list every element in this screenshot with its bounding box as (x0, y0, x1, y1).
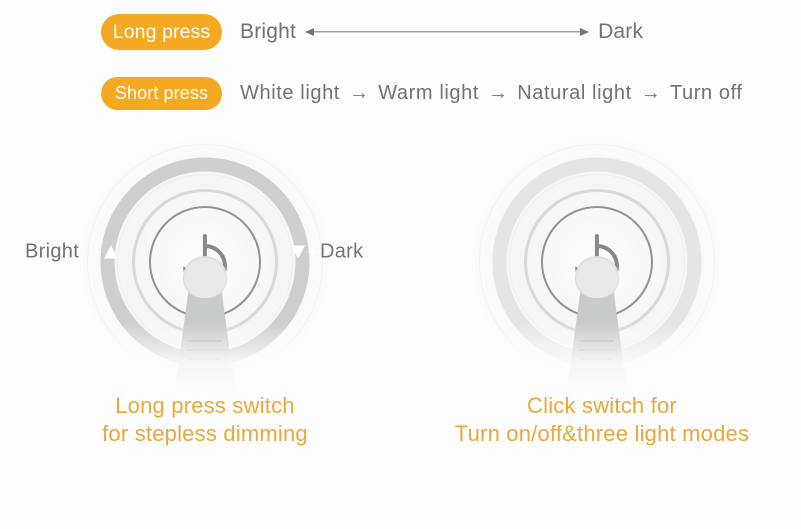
caption-left-line-1: Long press switch (40, 392, 370, 420)
diagram-label-dark: Dark (320, 241, 363, 264)
double-headed-arrow-icon (306, 26, 588, 38)
long-press-dark-label: Dark (598, 20, 643, 44)
badge-short-press: Short press (101, 77, 222, 110)
legend-row-long-press: Long press Bright Dark (101, 14, 643, 50)
switch-illustration-left: – + Bright Dark (75, 138, 335, 388)
caption-right-line-2: Turn on/off&three light modes (412, 420, 792, 448)
diagram-click-modes (467, 138, 727, 388)
plus-sign-icon: + (308, 245, 317, 260)
triangle-down-icon (291, 246, 305, 259)
switch-illustration-right (467, 138, 727, 388)
mode-natural-light: Natural light (517, 82, 632, 105)
diagram-label-bright: Bright (25, 241, 79, 264)
short-press-description: White light → Warm light → Natural light… (240, 82, 743, 105)
mode-white-light: White light (240, 82, 340, 105)
legend-row-short-press: Short press White light → Warm light → N… (101, 76, 743, 110)
badge-long-press: Long press (101, 14, 222, 50)
caption-right-line-1: Click switch for (412, 392, 792, 420)
arrow-right-icon-3: → (641, 83, 661, 103)
marker-brighter: – (93, 245, 118, 260)
caption-click-switch: Click switch for Turn on/off&three light… (412, 392, 792, 448)
mode-turn-off: Turn off (670, 82, 743, 105)
long-press-bright-label: Bright (240, 20, 296, 44)
arrow-right-icon-1: → (349, 83, 369, 103)
caption-long-press: Long press switch for stepless dimming (40, 392, 370, 448)
diagram-long-press-dimming: – + Bright Dark (75, 138, 335, 388)
finger-pressing-icon (167, 256, 243, 388)
minus-sign-icon: – (93, 245, 101, 260)
triangle-up-icon (104, 246, 118, 259)
finger-pressing-icon (559, 256, 635, 388)
arrow-right-icon-2: → (488, 83, 508, 103)
caption-left-line-2: for stepless dimming (40, 420, 370, 448)
marker-darker: + (291, 245, 317, 260)
mode-warm-light: Warm light (378, 82, 479, 105)
long-press-description: Bright Dark (240, 20, 643, 44)
